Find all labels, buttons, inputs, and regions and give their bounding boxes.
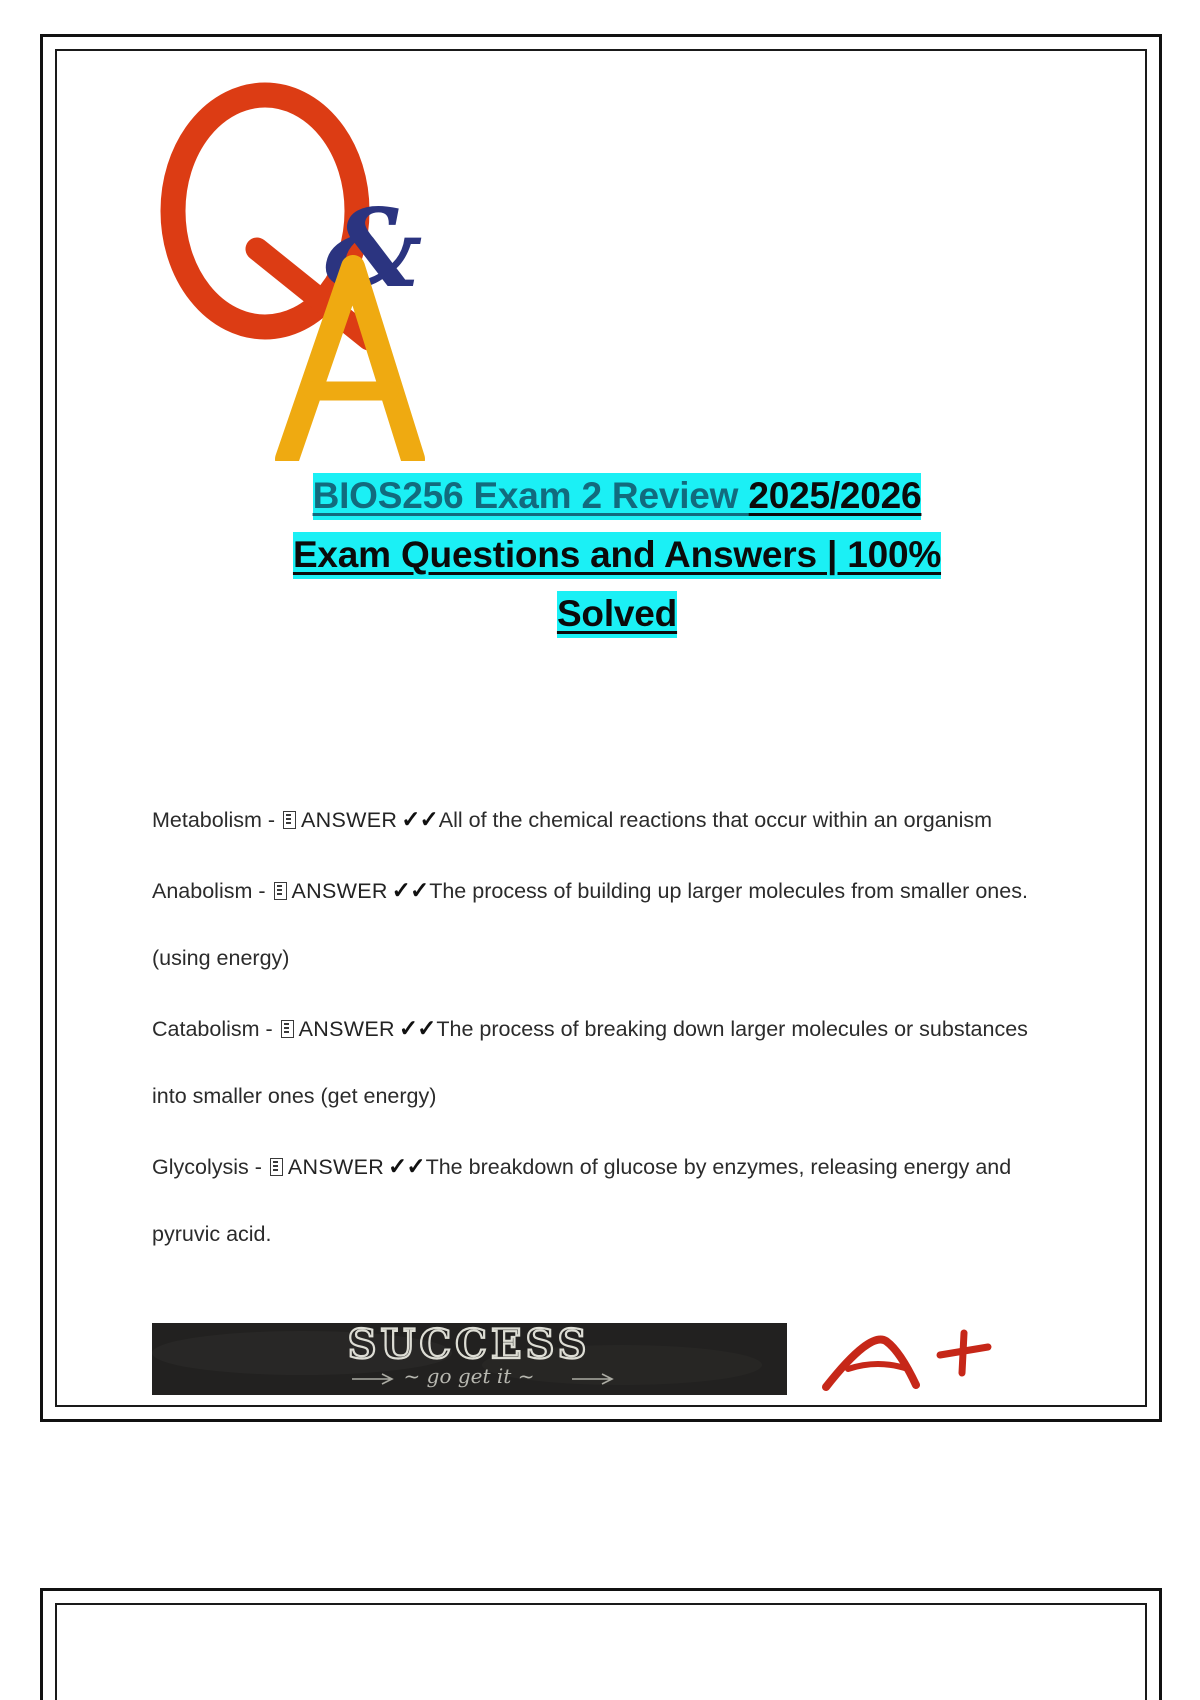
next-page-frame (40, 1588, 1162, 1700)
chalkboard-main-text: SUCCESS (348, 1323, 591, 1368)
document-page-frame-inner: & BIOS256 Exam 2 Review 2025/2026 Exam Q… (55, 49, 1147, 1407)
double-check-icon: ✓✓ (384, 1153, 426, 1179)
qa-answer-keyword: ANSWER (301, 808, 397, 832)
qa-logo: & (157, 71, 427, 461)
qa-answer-keyword: ANSWER (299, 1017, 395, 1041)
qa-item: Metabolism - ANSWER✓✓All of the chemical… (152, 786, 1042, 854)
qa-term: Catabolism (152, 1017, 260, 1041)
qa-item: Glycolysis - ANSWER✓✓The breakdown of gl… (152, 1133, 1042, 1268)
page-title-line-1: BIOS256 Exam 2 Review 2025/2026 (152, 466, 1082, 525)
qa-item: Anabolism - ANSWER✓✓The process of build… (152, 857, 1042, 992)
qa-term: Metabolism (152, 808, 262, 832)
qa-item: Catabolism - ANSWER✓✓The process of brea… (152, 995, 1042, 1130)
double-check-icon: ✓✓ (395, 1015, 437, 1041)
qa-answer-keyword: ANSWER (288, 1155, 384, 1179)
page-title-subtitle: Exam Questions and Answers | 100% (293, 532, 941, 579)
missing-glyph-box-icon (281, 1020, 294, 1038)
page-title-solved: Solved (557, 591, 677, 638)
page-title-line-2: Exam Questions and Answers | 100% (152, 525, 1082, 584)
qa-separator: - (252, 879, 271, 903)
double-check-icon: ✓✓ (397, 806, 439, 832)
missing-glyph-box-icon (270, 1158, 283, 1176)
qa-separator: - (249, 1155, 268, 1179)
qa-answer-keyword: ANSWER (292, 879, 388, 903)
a-plus-grade-mark (812, 1325, 1012, 1395)
qa-term: Anabolism (152, 879, 252, 903)
chalkboard-sub-text: ~ go get it ~ (404, 1364, 535, 1388)
page-title-line-3: Solved (152, 584, 1082, 643)
success-chalkboard-image: SUCCESS ~ go get it ~ (152, 1323, 787, 1395)
qa-separator: - (260, 1017, 279, 1041)
footer-image-row: SUCCESS ~ go get it ~ (152, 1323, 1042, 1395)
page-title-year: 2025/2026 (748, 473, 921, 520)
document-page-content: & BIOS256 Exam 2 Review 2025/2026 Exam Q… (57, 51, 1145, 1405)
missing-glyph-box-icon (283, 811, 296, 829)
page-title: BIOS256 Exam 2 Review 2025/2026 Exam Que… (152, 466, 1082, 643)
document-page-frame: & BIOS256 Exam 2 Review 2025/2026 Exam Q… (40, 34, 1162, 1422)
qa-content-list: Metabolism - ANSWER✓✓All of the chemical… (152, 786, 1042, 1271)
page-title-course: BIOS256 Exam 2 Review (313, 473, 749, 520)
missing-glyph-box-icon (274, 882, 287, 900)
double-check-icon: ✓✓ (388, 877, 430, 903)
qa-answer-text: All of the chemical reactions that occur… (439, 808, 992, 832)
qa-term: Glycolysis (152, 1155, 249, 1179)
next-page-frame-inner (55, 1603, 1147, 1700)
qa-separator: - (262, 808, 281, 832)
